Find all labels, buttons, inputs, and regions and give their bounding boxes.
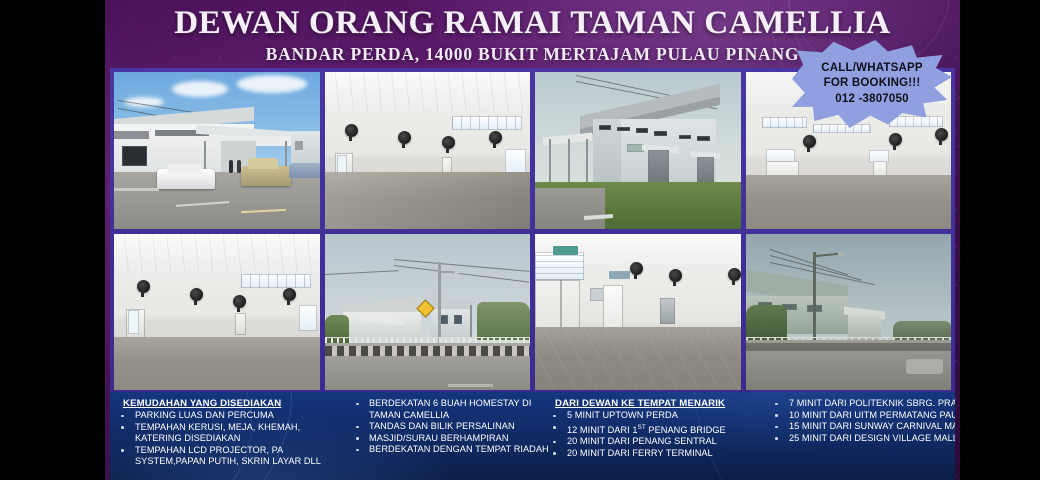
info-column-attractions: DARI DEWAN KE TEMPAT MENARIK 5 MINIT UPT…: [545, 398, 759, 480]
photo-hall-exterior-side[interactable]: [535, 72, 741, 229]
info-columns: KEMUDAHAN YANG DISEDIAKAN PARKING LUAS D…: [110, 392, 955, 480]
column-heading: KEMUDAHAN YANG DISEDIAKAN: [123, 398, 349, 409]
list-item: 25 MINIT DARI DESIGN VILLAGE MALL: [759, 433, 955, 445]
info-band: KEMUDAHAN YANG DISEDIAKAN PARKING LUAS D…: [110, 392, 955, 480]
photo-hall-exterior-front[interactable]: [114, 72, 320, 229]
list-item-continuation: SYSTEM,PAPAN PUTIH, SKRIN LAYAR DLL: [113, 456, 349, 468]
list-item-penang-bridge: 12 MINIT DARI 1ST PENANG BRIDGE: [545, 422, 759, 437]
photo-street-view[interactable]: [325, 234, 531, 391]
photo-hall-interior-second[interactable]: [114, 234, 320, 391]
list-item: TANDAS DAN BILIK PERSALINAN: [349, 421, 545, 433]
letterbox-right: [960, 0, 1040, 480]
info-column-facilities: KEMUDAHAN YANG DISEDIAKAN PARKING LUAS D…: [113, 398, 349, 480]
list-item: 20 MINIT DARI PENANG SENTRAL: [545, 436, 759, 448]
photo-hall-interior-wide[interactable]: [325, 72, 531, 229]
badge-line-1: CALL/WHATSAPP: [821, 61, 922, 76]
list-item: 7 MINIT DARI POLITEKNIK SBRG. PRAI: [759, 398, 955, 410]
facilities-list: PARKING LUAS DAN PERCUMA TEMPAHAN KERUSI…: [113, 410, 349, 468]
list-item: TEMPAHAN LCD PROJECTOR, PA: [113, 445, 349, 457]
attractions-list: 5 MINIT UPTOWN PERDA 12 MINIT DARI 1ST P…: [545, 410, 759, 459]
info-column-nearby: BERDEKATAN 6 BUAH HOMESTAY DI TAMAN CAME…: [349, 398, 545, 480]
ordinal-suffix: ST: [638, 424, 646, 431]
list-item: 20 MINIT DARI FERRY TERMINAL: [545, 448, 759, 460]
letterbox-left: [0, 0, 105, 480]
badge-line-2: FOR BOOKING!!!: [824, 76, 921, 91]
list-item: BERDEKATAN 6 BUAH HOMESTAY DI: [349, 398, 545, 410]
badge-phone-number: 012 -3807050: [835, 92, 908, 107]
page-title: DEWAN ORANG RAMAI TAMAN CAMELLIA: [105, 0, 960, 42]
flyer-background: DEWAN ORANG RAMAI TAMAN CAMELLIA BANDAR …: [105, 0, 960, 480]
distances-list: 7 MINIT DARI POLITEKNIK SBRG. PRAI 10 MI…: [759, 398, 955, 444]
list-item: TEMPAHAN KERUSI, MEJA, KHEMAH,: [113, 422, 349, 434]
photo-hall-interior-doors[interactable]: [535, 234, 741, 391]
info-column-distances: 7 MINIT DARI POLITEKNIK SBRG. PRAI 10 MI…: [759, 398, 955, 480]
list-item-continuation: KATERING DISEDIAKAN: [113, 433, 349, 445]
list-item: 15 MINIT DARI SUNWAY CARNIVAL MALL: [759, 421, 955, 433]
list-item: PARKING LUAS DAN PERCUMA: [113, 410, 349, 422]
column-heading: DARI DEWAN KE TEMPAT MENARIK: [555, 398, 759, 409]
list-item: BERDEKATAN DENGAN TEMPAT RIADAH: [349, 444, 545, 456]
list-item: 10 MINIT DARI UITM PERMATANG PAUH: [759, 410, 955, 422]
photo-roadside-view[interactable]: [746, 234, 952, 391]
poster-canvas: DEWAN ORANG RAMAI TAMAN CAMELLIA BANDAR …: [0, 0, 1040, 480]
list-item-continuation: TAMAN CAMELLIA: [349, 410, 545, 422]
list-item: MASJID/SURAU BERHAMPIRAN: [349, 433, 545, 445]
nearby-list: BERDEKATAN 6 BUAH HOMESTAY DI TAMAN CAME…: [349, 398, 545, 456]
list-item: 5 MINIT UPTOWN PERDA: [545, 410, 759, 422]
